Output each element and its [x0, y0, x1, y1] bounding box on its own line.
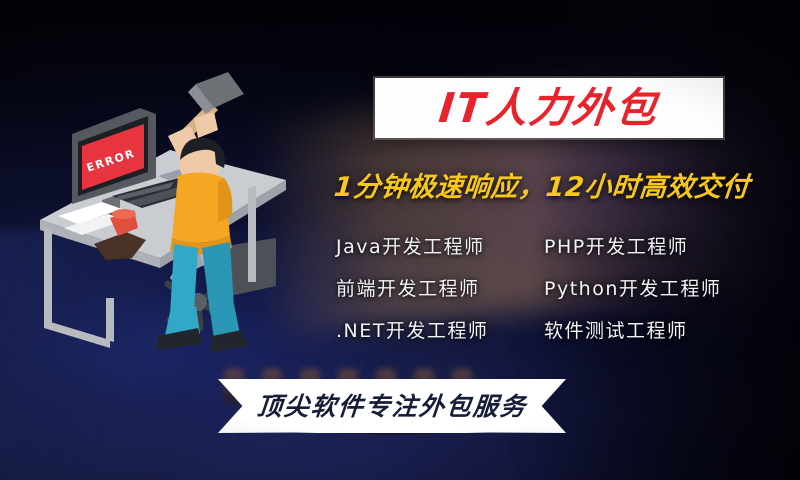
ribbon-label: 顶尖软件专注外包服务	[216, 379, 569, 433]
bottom-ribbon: 顶尖软件专注外包服务	[218, 379, 566, 433]
illustration-developer-smashing-computer: ERROR	[18, 72, 308, 372]
page-title: IT人力外包	[437, 88, 661, 129]
poster-canvas: ERROR	[0, 0, 800, 480]
service-item-php: PHP开发工程师	[544, 232, 788, 259]
service-item-testing: 软件测试工程师	[544, 316, 788, 343]
service-list: Java开发工程师 PHP开发工程师 前端开发工程师 Python开发工程师 .…	[336, 224, 788, 350]
service-item-dotnet: .NET开发工程师	[336, 316, 544, 343]
service-item-frontend: 前端开发工程师	[336, 274, 544, 301]
title-banner: IT人力外包	[375, 78, 723, 138]
service-item-java: Java开发工程师	[336, 232, 544, 259]
subtitle: 1分钟极速响应，12小时高效交付	[333, 174, 795, 201]
service-item-python: Python开发工程师	[544, 274, 788, 301]
